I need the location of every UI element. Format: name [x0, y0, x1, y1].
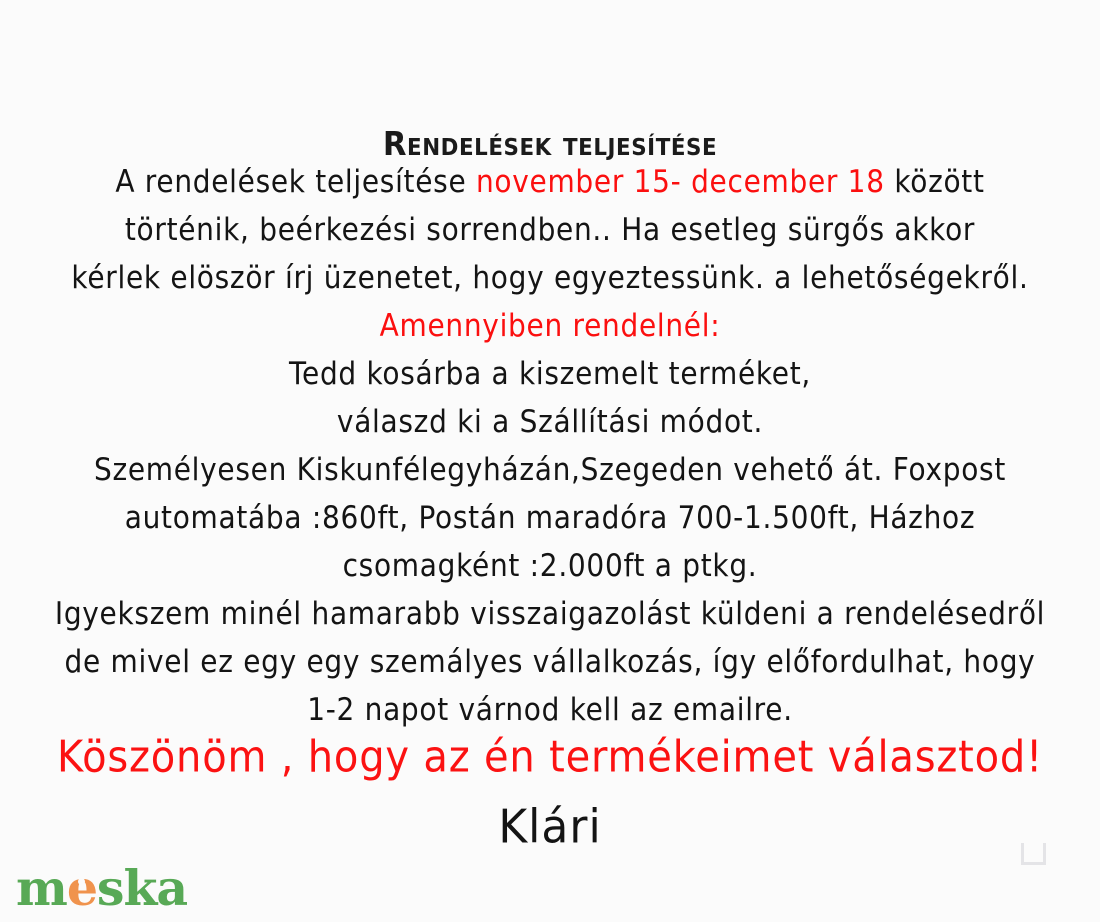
logo-text-part-3: ska — [97, 862, 187, 914]
logo-text-part-1: m — [16, 862, 67, 914]
thank-you-message: Köszönöm , hogy az én termékeimet válasz… — [0, 728, 1100, 785]
meska-logo: meska — [16, 862, 187, 914]
body-line: A rendelések teljesítése november 15- de… — [0, 155, 1100, 209]
body-line-segment: A rendelések teljesítése — [115, 163, 476, 200]
body-line-segment: között — [885, 163, 985, 200]
body-line: kérlek elöször írj üzenetet, hogy egyezt… — [0, 251, 1100, 305]
body-line: csomagként :2.000ft a ptkg. — [0, 539, 1100, 593]
body-line-segment-highlight: november 15- december 18 — [476, 163, 885, 200]
signature: Klári — [0, 799, 1100, 858]
body-text-block: A rendelések teljesítése november 15- de… — [0, 158, 1100, 734]
body-line: válaszd ki a Szállítási módot. — [0, 395, 1100, 449]
body-line: történik, beérkezési sorrendben.. Ha ese… — [0, 203, 1100, 257]
body-line: automatába :860ft, Postán maradóra 700-1… — [0, 491, 1100, 545]
document-page: Rendelések teljesítése A rendelések telj… — [0, 0, 1100, 922]
logo-e-mark: e — [67, 862, 97, 914]
body-line: Tedd kosárba a kiszemelt terméket, — [0, 347, 1100, 401]
body-line: de mivel ez egy egy szemályes vállalkozá… — [0, 635, 1100, 689]
logo-text-part-2: e — [67, 859, 97, 917]
logo-eye-dot-icon — [78, 878, 85, 885]
body-line-heading: Amennyiben rendelnél: — [0, 299, 1100, 353]
body-line: Igyekszem minél hamarabb visszaigazolást… — [0, 587, 1100, 641]
body-line: Személyesen Kiskunfélegyházán,Szegeden v… — [0, 443, 1100, 497]
corner-bracket-icon — [1021, 843, 1046, 865]
